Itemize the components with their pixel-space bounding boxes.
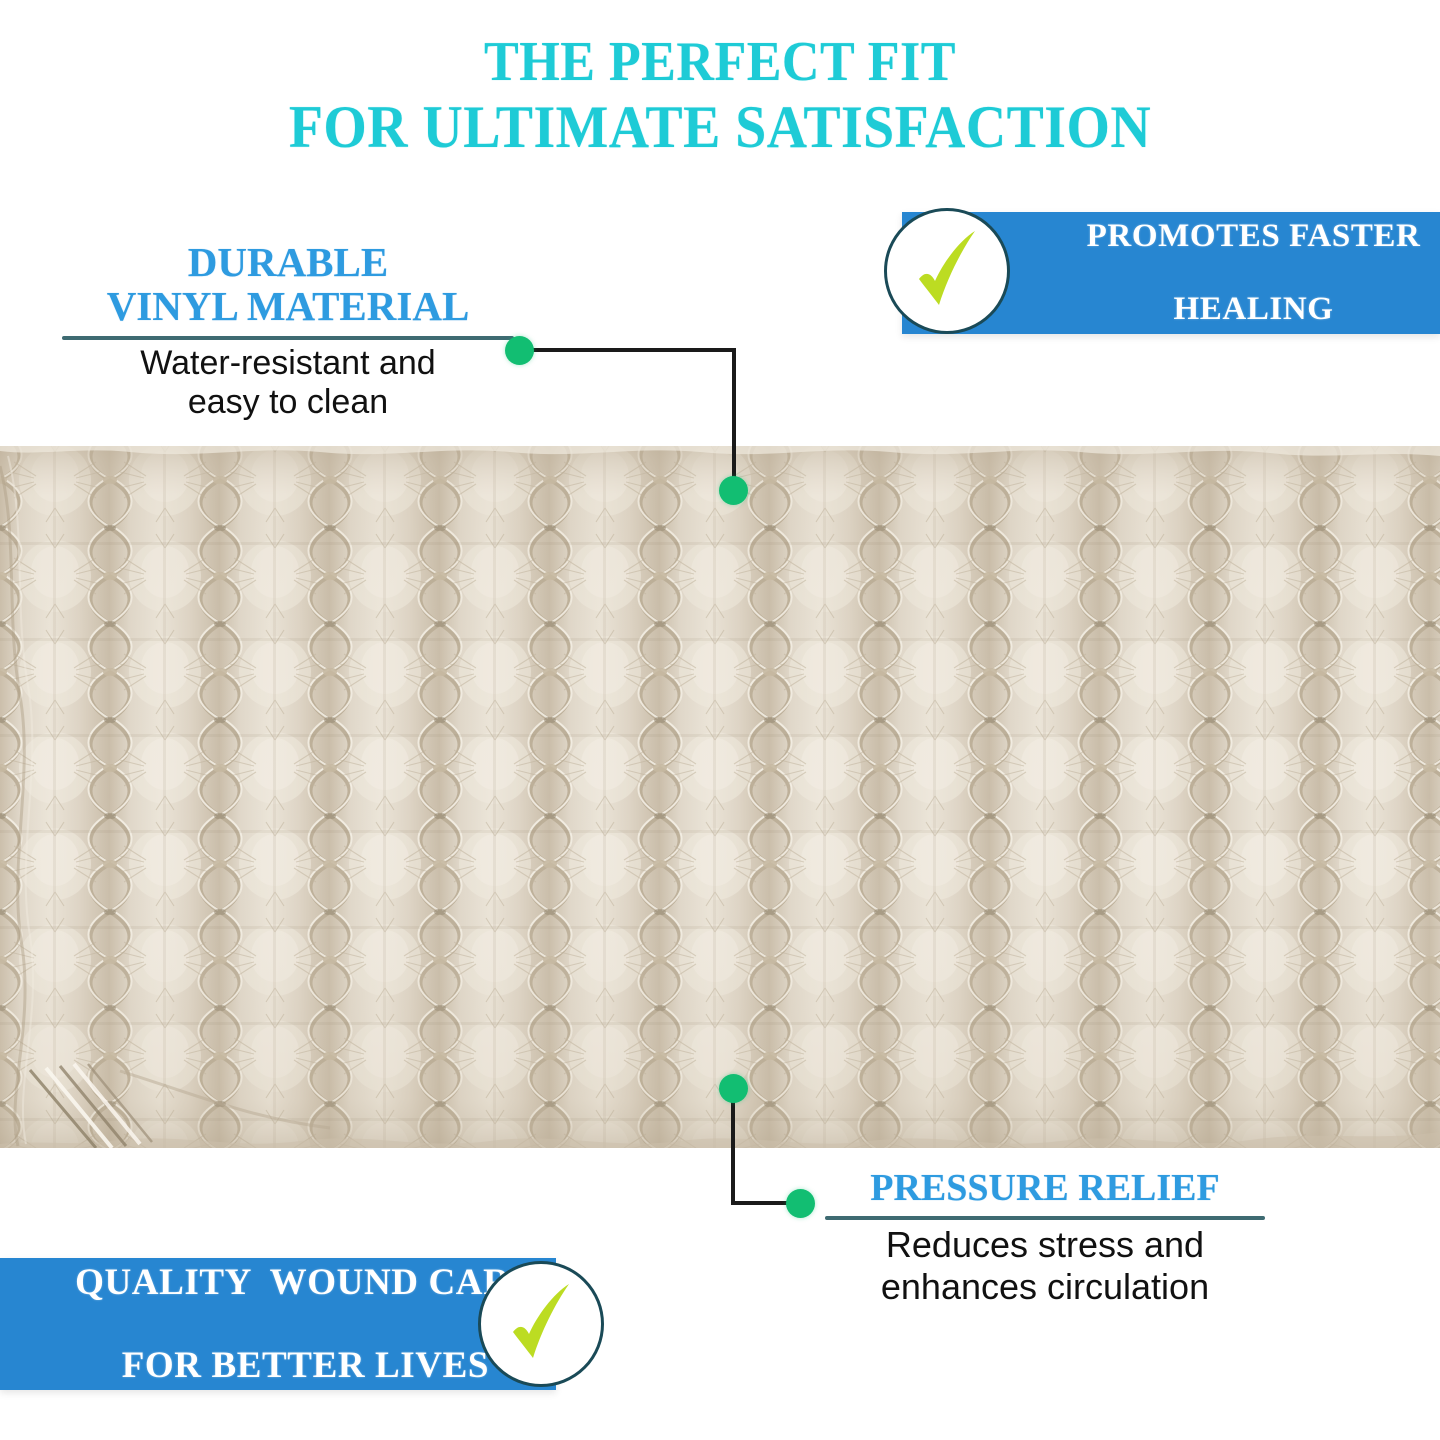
banner-healing-line1: PROMOTES FASTER [1087,218,1421,254]
banner-healing-line2: HEALING [1174,291,1334,327]
product-image-mattress [0,446,1440,1148]
callout-durable-divider [62,336,514,340]
callout-pressure-relief: PRESSURE RELIEF Reduces stress and enhan… [825,1168,1265,1308]
callout-anchor-dot-durable-product [719,476,748,505]
callout-durable-vinyl-material: DURABLE VINYL MATERIAL Water-resistant a… [62,240,514,422]
callout-durable-heading: DURABLE VINYL MATERIAL [62,240,514,329]
title-line-2: FOR ULTIMATE SATISFACTION [50,97,1389,158]
callout-anchor-dot-pressure-product [719,1074,748,1103]
callout-durable-heading-line2: VINYL MATERIAL [107,283,470,329]
callout-durable-body-line2: easy to clean [188,383,388,421]
title-line-1: THE PERFECT FIT [50,34,1389,91]
callout-durable-body-line1: Water-resistant and [140,344,435,382]
callout-anchor-dot-pressure-label [786,1189,815,1218]
check-icon [478,1261,604,1387]
callout-pressure-divider [825,1216,1265,1220]
banner-quality-line2: FOR BETTER LIVES [122,1345,489,1386]
callout-pressure-body: Reduces stress and enhances circulation [825,1224,1265,1308]
callout-pressure-body-line2: enhances circulation [881,1266,1209,1307]
callout-durable-body: Water-resistant and easy to clean [62,344,514,423]
callout-pressure-body-line1: Reduces stress and [886,1224,1204,1265]
banner-quality-line1: QUALITY WOUND CARE [75,1262,536,1303]
page-title: THE PERFECT FIT FOR ULTIMATE SATISFACTIO… [0,34,1440,158]
infographic-page: THE PERFECT FIT FOR ULTIMATE SATISFACTIO… [0,0,1440,1440]
check-icon [884,208,1010,334]
callout-durable-heading-line1: DURABLE [188,239,388,285]
callout-anchor-dot-durable-label [505,336,534,365]
callout-pressure-heading: PRESSURE RELIEF [825,1168,1265,1209]
banner-quality-wound-care: QUALITY WOUND CARE FOR BETTER LIVES [0,1258,556,1390]
banner-promotes-faster-healing: PROMOTES FASTER HEALING [902,212,1440,334]
callout-pressure-heading-line1: PRESSURE RELIEF [870,1167,1219,1209]
